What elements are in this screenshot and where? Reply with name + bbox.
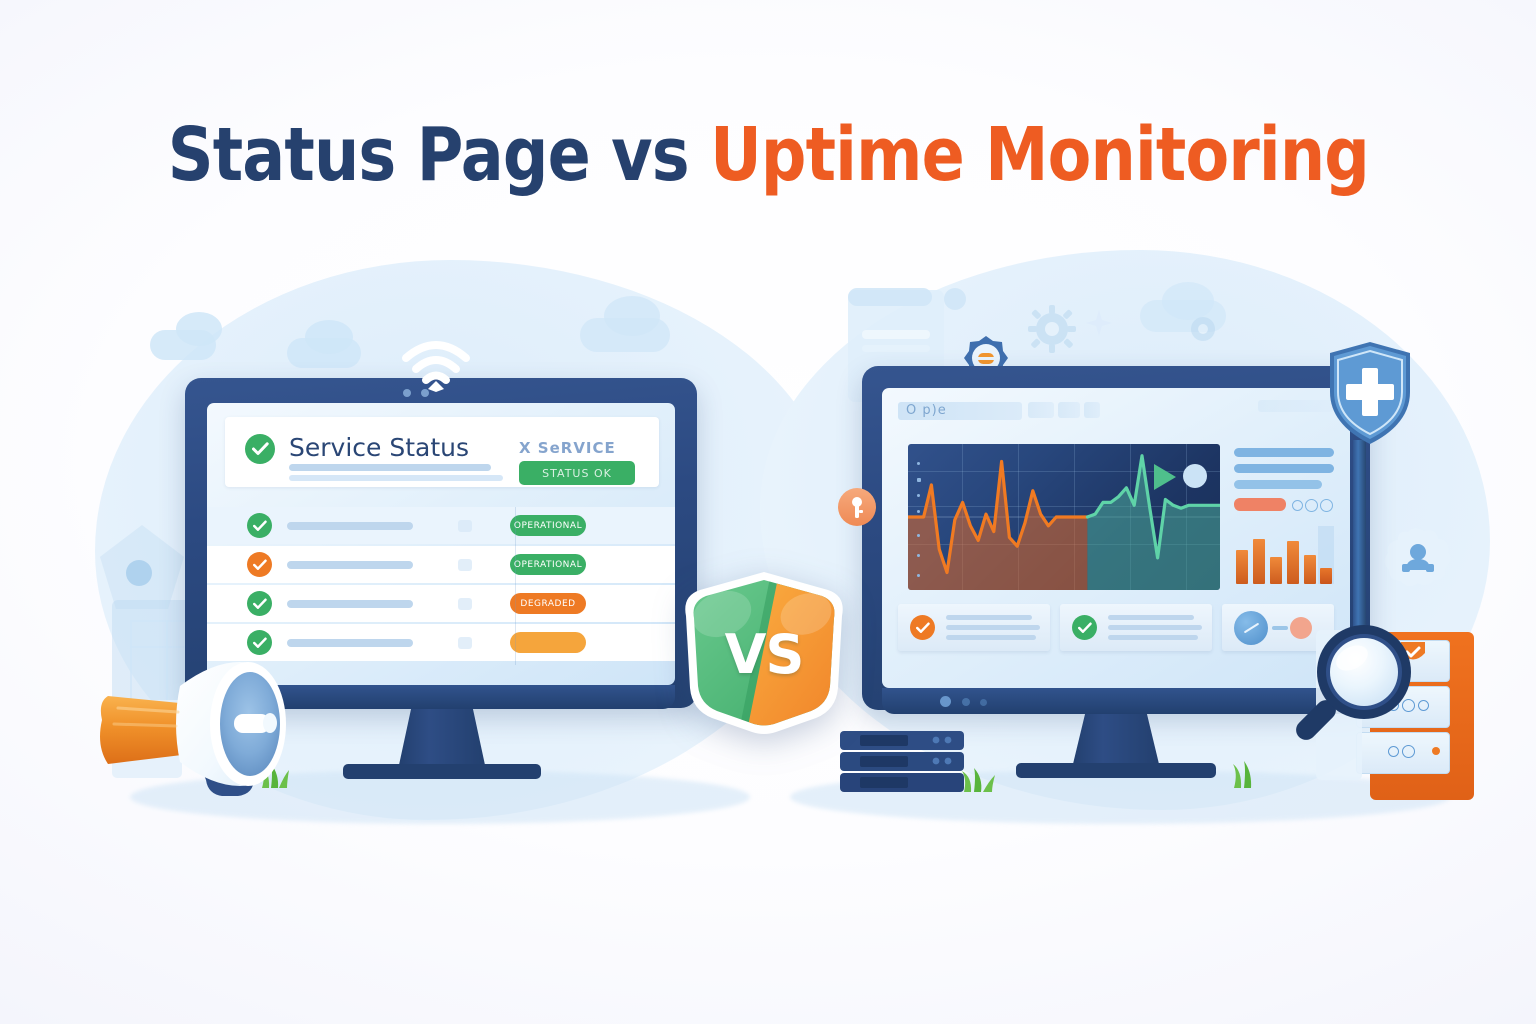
server-indicator [1418,700,1429,711]
page-title: Status Page vs Uptime Monitoring [0,118,1536,192]
title-part-orange: Uptime Monitoring [710,112,1369,198]
cloud-icon [604,296,660,336]
card-line [946,635,1036,640]
mini-bar [1287,541,1299,584]
chart-axis-tick [917,534,920,537]
header-skeleton-line [289,464,491,471]
table-row[interactable]: OPERATIONAL [207,546,675,583]
status-card[interactable] [898,604,1050,651]
chart-axis-tick [917,478,921,482]
wifi-signal-icon [400,340,472,397]
shield-pole [1353,440,1366,630]
server-rack-icon [838,730,974,801]
gauge-icon [1234,611,1268,645]
mini-bar [1304,555,1316,584]
table-row[interactable]: OPERATIONAL [207,507,675,544]
sidebar-bar [1234,448,1334,457]
row-status-pill: OPERATIONAL [510,554,586,575]
chart-axis-tick [917,554,920,557]
power-indicator [940,696,951,707]
sidebar-bar [1234,480,1322,489]
sidebar-circle [1292,500,1303,511]
status-card[interactable] [1060,604,1212,651]
dot-marker [1183,464,1207,488]
row-value-skeleton [458,637,472,649]
mini-bar [1253,539,1265,584]
header-skeleton-line [289,475,503,481]
card-line [1108,625,1202,630]
status-led [980,699,987,706]
sidebar-alert-bar [1234,498,1286,511]
key-badge-icon [838,488,876,526]
uptime-chart-panel [908,444,1220,590]
overall-status-button[interactable]: STATUS OK [519,461,635,485]
decor-dot [944,288,966,310]
cloud-icon [305,320,353,354]
card-line [1108,635,1198,640]
card-line [946,615,1032,620]
monitor-screen-frame: O p)e [882,388,1350,688]
row-status-pill: DEGRADED [510,593,586,614]
versus-badge: VS [678,568,850,736]
shield-health-icon [1324,340,1416,455]
column-separator [515,507,516,665]
server-indicator-active [1432,747,1440,755]
title-part-navy: Status Page vs [167,112,709,198]
dashboard-toolbar-chip[interactable] [1084,402,1100,418]
user-badge-icon [1380,528,1456,596]
versus-label: VS [678,570,850,738]
row-status-pill: OPERATIONAL [510,515,586,536]
dashboard-toolbar-chip[interactable] [1258,400,1334,412]
service-status-title: Service Status [289,433,469,462]
chart-axis-tick [917,462,920,465]
uptime-dashboard-screen: O p)e [882,388,1350,688]
megaphone-icon [62,628,332,815]
row-check-icon [247,552,272,577]
row-status-pill [510,632,586,653]
cloud-icon [176,312,222,346]
status-led [962,698,970,706]
card-line [1108,615,1194,620]
chart-axis-tick [917,574,920,577]
row-skeleton-line [287,561,413,569]
dashboard-toolbar-chip[interactable] [1058,402,1080,418]
row-skeleton-line [287,522,413,530]
document-panel-line [862,345,930,352]
monitor-neck [399,709,485,765]
row-check-icon [247,591,272,616]
row-value-skeleton [458,598,472,610]
dashboard-toolbar-chip[interactable] [1028,402,1054,418]
decor-pill [848,288,932,306]
chart-axis-tick [917,494,920,497]
mini-bar [1270,557,1282,584]
decor-spark-icon [1086,310,1112,336]
play-triangle-marker [1154,464,1176,490]
gear-icon [1028,305,1076,353]
mini-bar-chart [1234,526,1334,584]
mini-bar [1236,550,1248,584]
illustration-canvas: Service Status X SeRVICE STATUS OK OPERA… [0,0,1536,1024]
chart-axis-tick [917,510,920,513]
gear-icon [1186,312,1220,346]
dashboard-toolbar-label: O p)e [906,403,947,418]
row-value-skeleton [458,559,472,571]
gauge-needle [1244,622,1259,633]
sidebar-circle [1320,499,1333,512]
monitor-base [343,764,541,779]
sidebar-circle [1305,499,1318,512]
decor-flower-icon [126,560,152,586]
row-skeleton-line [287,600,413,608]
check-circle-icon [910,615,935,640]
monitor-neck [1073,714,1159,764]
card-line [946,625,1040,630]
row-check-icon [247,513,272,538]
service-brand-text: X SeRVICE [519,439,616,457]
monitor-chin [882,688,1350,714]
mini-bar [1320,568,1332,584]
row-value-skeleton [458,520,472,532]
status-check-icon [245,434,275,464]
monitor-base [1016,763,1216,778]
magnifier-icon [1286,616,1418,753]
sidebar-bar [1234,464,1334,473]
document-panel-line [862,330,930,339]
table-row[interactable]: DEGRADED [207,585,675,622]
check-circle-icon [1072,615,1097,640]
card-skeleton-lines [1108,615,1202,640]
card-skeleton-lines [946,615,1040,640]
dashboard-sidebar [1234,444,1334,590]
